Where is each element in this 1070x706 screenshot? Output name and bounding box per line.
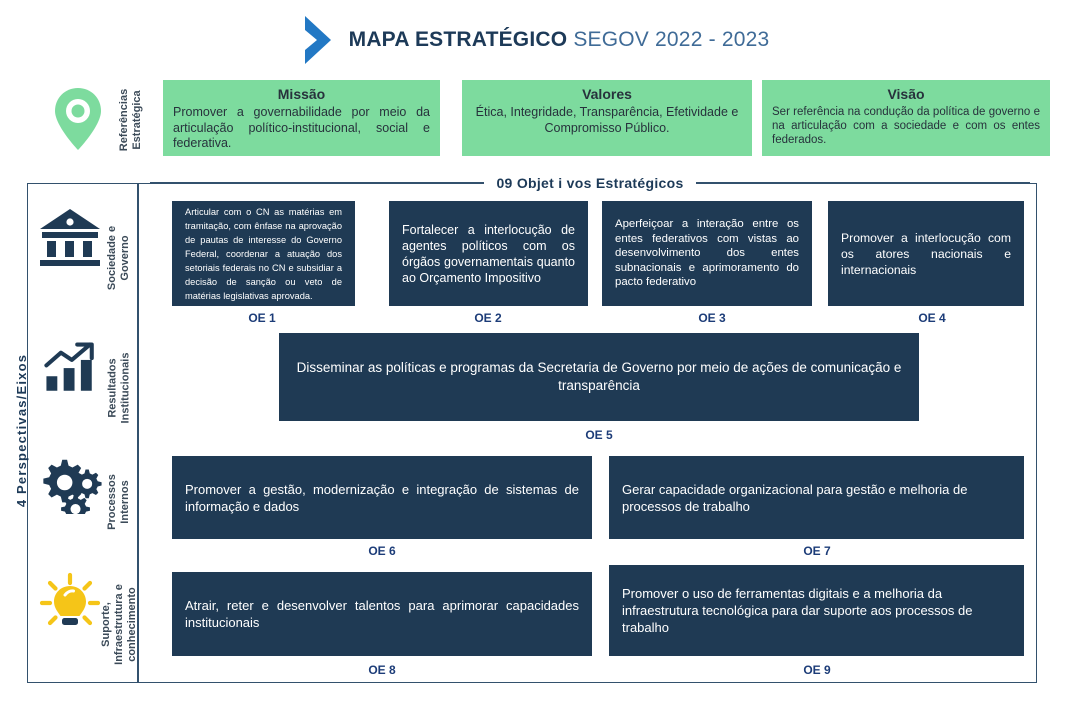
objective-label-oe3: OE 3 (682, 311, 742, 325)
objective-box-oe6[interactable]: Promover a gestão, modernização e integr… (172, 456, 592, 539)
lightbulb-icon (38, 572, 102, 641)
blue-chevron-icon (301, 14, 335, 66)
page-title-strong: MAPA ESTRATÉGICO (349, 28, 568, 51)
perspective-resultados-institucionais: Resultados Institucionais (38, 340, 136, 435)
perspective-processos-internos: Processos Internos (38, 452, 136, 552)
objective-label-oe8: OE 8 (352, 663, 412, 677)
objectives-header-label: 09 Objet i vos Estratégicos (484, 175, 695, 191)
objective-text-oe1: Articular com o CN as matérias em tramit… (185, 205, 342, 303)
objective-label-oe7: OE 7 (787, 544, 847, 558)
strategic-references-label: Referências Estratégica (96, 80, 166, 160)
objective-box-oe4[interactable]: Promover a interlocução com os atores na… (828, 201, 1024, 306)
strategic-references-row: Referências Estratégica Missão Promover … (0, 80, 1070, 162)
perspectives-axis-label: 4 Perspectivas/Eixos (10, 330, 34, 530)
objective-label-oe9: OE 9 (787, 663, 847, 677)
page-title: MAPA ESTRATÉGICO SEGOV 2022 - 2023 (349, 28, 770, 52)
mission-card: Missão Promover a governabilidade por me… (163, 80, 440, 156)
objective-label-oe1: OE 1 (232, 311, 292, 325)
objective-text-oe6: Promover a gestão, modernização e integr… (185, 481, 579, 515)
objective-box-oe8[interactable]: Atrair, reter e desenvolver talentos par… (172, 572, 592, 656)
objective-label-oe6: OE 6 (352, 544, 412, 558)
objective-label-oe5: OE 5 (569, 428, 629, 442)
objective-box-oe7[interactable]: Gerar capacidade organizacional para ges… (609, 456, 1024, 539)
perspective-label-sociedade-governo: Sociedade e Governo (102, 205, 136, 310)
objective-box-oe3[interactable]: Aperfeiçoar a interação entre os entes f… (602, 201, 812, 306)
vision-title: Visão (772, 86, 1040, 102)
ref-label-line2: Estratégica (131, 90, 143, 149)
mission-body: Promover a governabilidade por meio da a… (173, 105, 430, 152)
objective-text-oe8: Atrair, reter e desenvolver talentos par… (185, 597, 579, 631)
page-header: MAPA ESTRATÉGICO SEGOV 2022 - 2023 (0, 14, 1070, 66)
vision-body: Ser referência na condução da política d… (772, 105, 1040, 147)
mission-title: Missão (173, 86, 430, 102)
objectives-header: 09 Objet i vos Estratégicos (150, 173, 1030, 193)
objective-box-oe9[interactable]: Promover o uso de ferramentas digitais e… (609, 565, 1024, 656)
values-title: Valores (472, 86, 742, 102)
vision-card: Visão Ser referência na condução da polí… (762, 80, 1050, 156)
objective-text-oe5: Disseminar as políticas e programas da S… (292, 359, 906, 395)
perspective-sociedade-governo: Sociedade e Governo (38, 205, 136, 310)
header-rule-right (696, 182, 1030, 184)
perspective-label-suporte-infraestrutura: Suporte, Infraestrutura e conhecimento (102, 572, 136, 677)
values-card: Valores Ética, Integridade, Transparênci… (462, 80, 752, 156)
government-building-icon (38, 205, 102, 274)
objective-text-oe9: Promover o uso de ferramentas digitais e… (622, 585, 1011, 636)
values-body: Ética, Integridade, Transparência, Efeti… (472, 105, 742, 136)
perspective-label-processos-internos: Processos Internos (102, 452, 136, 552)
growth-chart-icon (38, 340, 102, 403)
objective-text-oe7: Gerar capacidade organizacional para ges… (622, 481, 1011, 515)
objective-box-oe1[interactable]: Articular com o CN as matérias em tramit… (172, 201, 355, 306)
objective-label-oe2: OE 2 (458, 311, 518, 325)
objective-label-oe4: OE 4 (902, 311, 962, 325)
objective-box-oe5[interactable]: Disseminar as políticas e programas da S… (279, 333, 919, 421)
objective-text-oe2: Fortalecer a interlocução de agentes pol… (402, 222, 575, 286)
header-rule-left (150, 182, 484, 184)
objective-text-oe3: Aperfeiçoar a interação entre os entes f… (615, 217, 799, 290)
perspective-suporte-infraestrutura: Suporte, Infraestrutura e conhecimento (38, 572, 136, 677)
gears-icon (38, 452, 102, 519)
objective-box-oe2[interactable]: Fortalecer a interlocução de agentes pol… (389, 201, 588, 306)
perspective-label-resultados-institucionais: Resultados Institucionais (102, 340, 136, 435)
ref-label-line1: Referências (118, 89, 130, 151)
objective-text-oe4: Promover a interlocução com os atores na… (841, 230, 1011, 278)
page-title-light: SEGOV 2022 - 2023 (573, 28, 769, 51)
